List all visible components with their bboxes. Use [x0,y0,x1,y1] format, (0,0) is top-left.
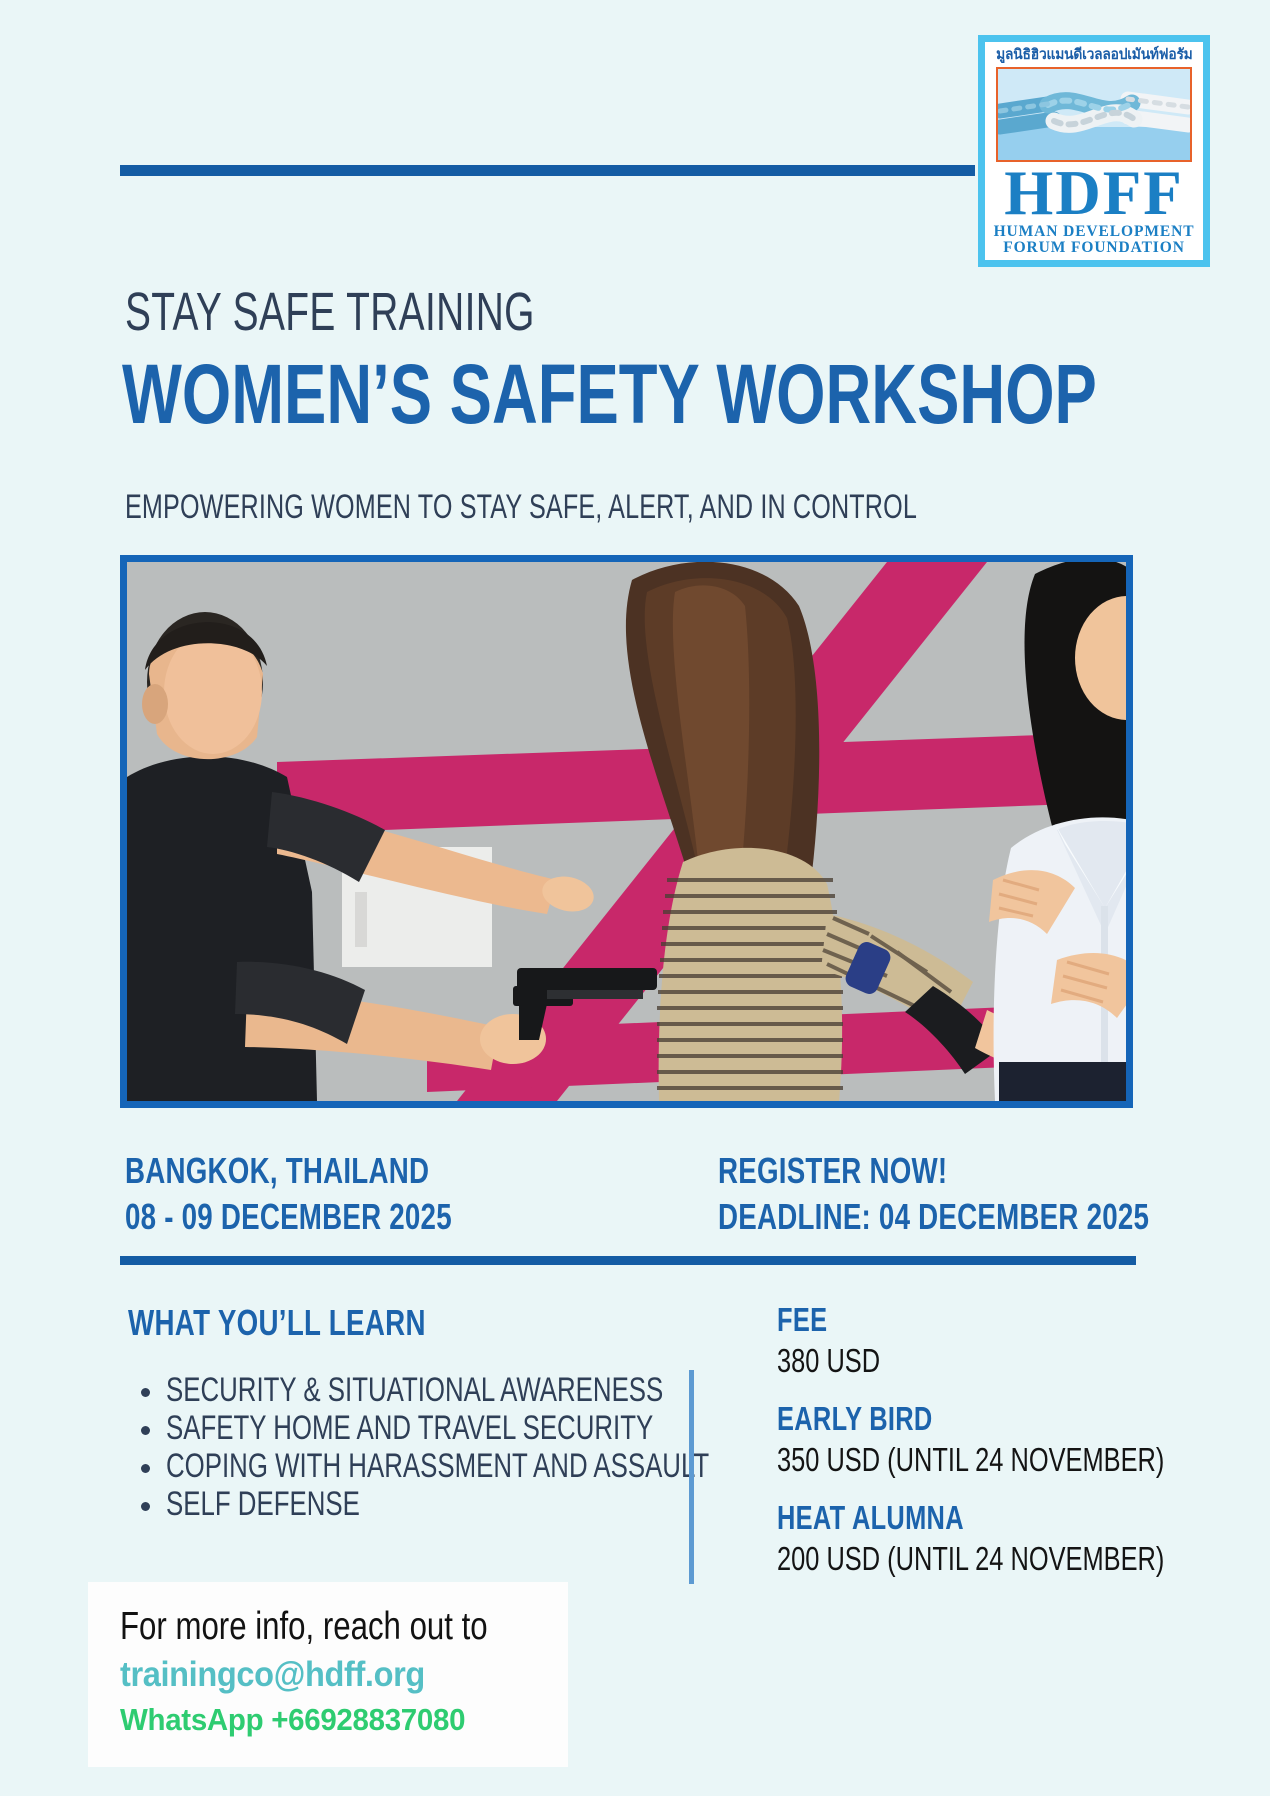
contact-whatsapp[interactable]: WhatsApp +66928837080 [120,1701,546,1739]
logo-acronym: HDFF [1004,164,1183,224]
event-register-block: REGISTER NOW! DEADLINE: 04 DECEMBER 2025 [718,1148,1270,1240]
tagline: EMPOWERING WOMEN TO STAY SAFE, ALERT, AN… [125,490,917,524]
event-location-block: BANGKOK, THAILAND 08 - 09 DECEMBER 2025 [125,1148,549,1240]
page-title: WOMEN’S SAFETY WORKSHOP [122,352,1097,436]
fee-value: 350 USD (UNTIL 24 NOVEMBER) [777,1440,1164,1480]
learn-list: SECURITY & SITUATIONAL AWARENESS SAFETY … [128,1371,881,1523]
fee-accent-bar [689,1370,694,1584]
fee-entry: FEE 380 USD [777,1303,1270,1380]
fee-entry: HEAT ALUMNA 200 USD (UNTIL 24 NOVEMBER) [777,1501,1270,1578]
fee-section: FEE 380 USD EARLY BIRD 350 USD (UNTIL 24… [777,1303,1270,1579]
list-item: SAFETY HOME AND TRAVEL SECURITY [128,1409,881,1447]
fee-label: FEE [777,1303,1164,1338]
learn-item-label: COPING WITH HARASSMENT AND ASSAULT [166,1447,709,1485]
contact-box: For more info, reach out to trainingco@h… [88,1582,568,1767]
learn-item-label: SECURITY & SITUATIONAL AWARENESS [166,1371,663,1409]
logo-thai-name: มูลนิธิฮิวแมนดีเวลลอปเมันท์ฟอรัม [996,48,1192,64]
list-item: COPING WITH HARASSMENT AND ASSAULT [128,1447,881,1485]
fee-label: EARLY BIRD [777,1402,1164,1437]
event-location: BANGKOK, THAILAND [125,1148,452,1194]
fee-entry: EARLY BIRD 350 USD (UNTIL 24 NOVEMBER) [777,1402,1270,1479]
list-item: SECURITY & SITUATIONAL AWARENESS [128,1371,881,1409]
learn-item-label: SAFETY HOME AND TRAVEL SECURITY [166,1409,653,1447]
section-divider [120,1256,1136,1265]
what-you-will-learn-section: WHAT YOU’LL LEARN SECURITY & SITUATIONAL… [128,1305,881,1523]
kicker-title: STAY SAFE TRAINING [125,285,535,339]
event-dates: 08 - 09 DECEMBER 2025 [125,1194,452,1240]
fee-value: 380 USD [777,1341,1164,1381]
logo-fullname-line1: HUMAN DEVELOPMENT [994,224,1195,240]
rope-knot-icon [996,67,1192,162]
register-cta[interactable]: REGISTER NOW! [718,1148,1149,1194]
contact-prompt: For more info, reach out to [120,1604,478,1649]
training-photo [120,555,1133,1108]
header-divider [120,165,975,176]
register-deadline: DEADLINE: 04 DECEMBER 2025 [718,1194,1149,1240]
poster-canvas: มูลนิธิฮิวแมนดีเวลลอปเมันท์ฟอรัม [0,0,1270,1796]
learn-heading: WHAT YOU’LL LEARN [128,1305,708,1341]
logo-fullname-line2: FORUM FOUNDATION [994,240,1195,256]
learn-item-label: SELF DEFENSE [166,1485,360,1523]
fee-label: HEAT ALUMNA [777,1501,1164,1536]
hdff-logo: มูลนิธิฮิวแมนดีเวลลอปเมันท์ฟอรัม [978,35,1210,267]
contact-email[interactable]: trainingco@hdff.org [120,1653,537,1696]
list-item: SELF DEFENSE [128,1485,881,1523]
fee-value: 200 USD (UNTIL 24 NOVEMBER) [777,1539,1164,1579]
